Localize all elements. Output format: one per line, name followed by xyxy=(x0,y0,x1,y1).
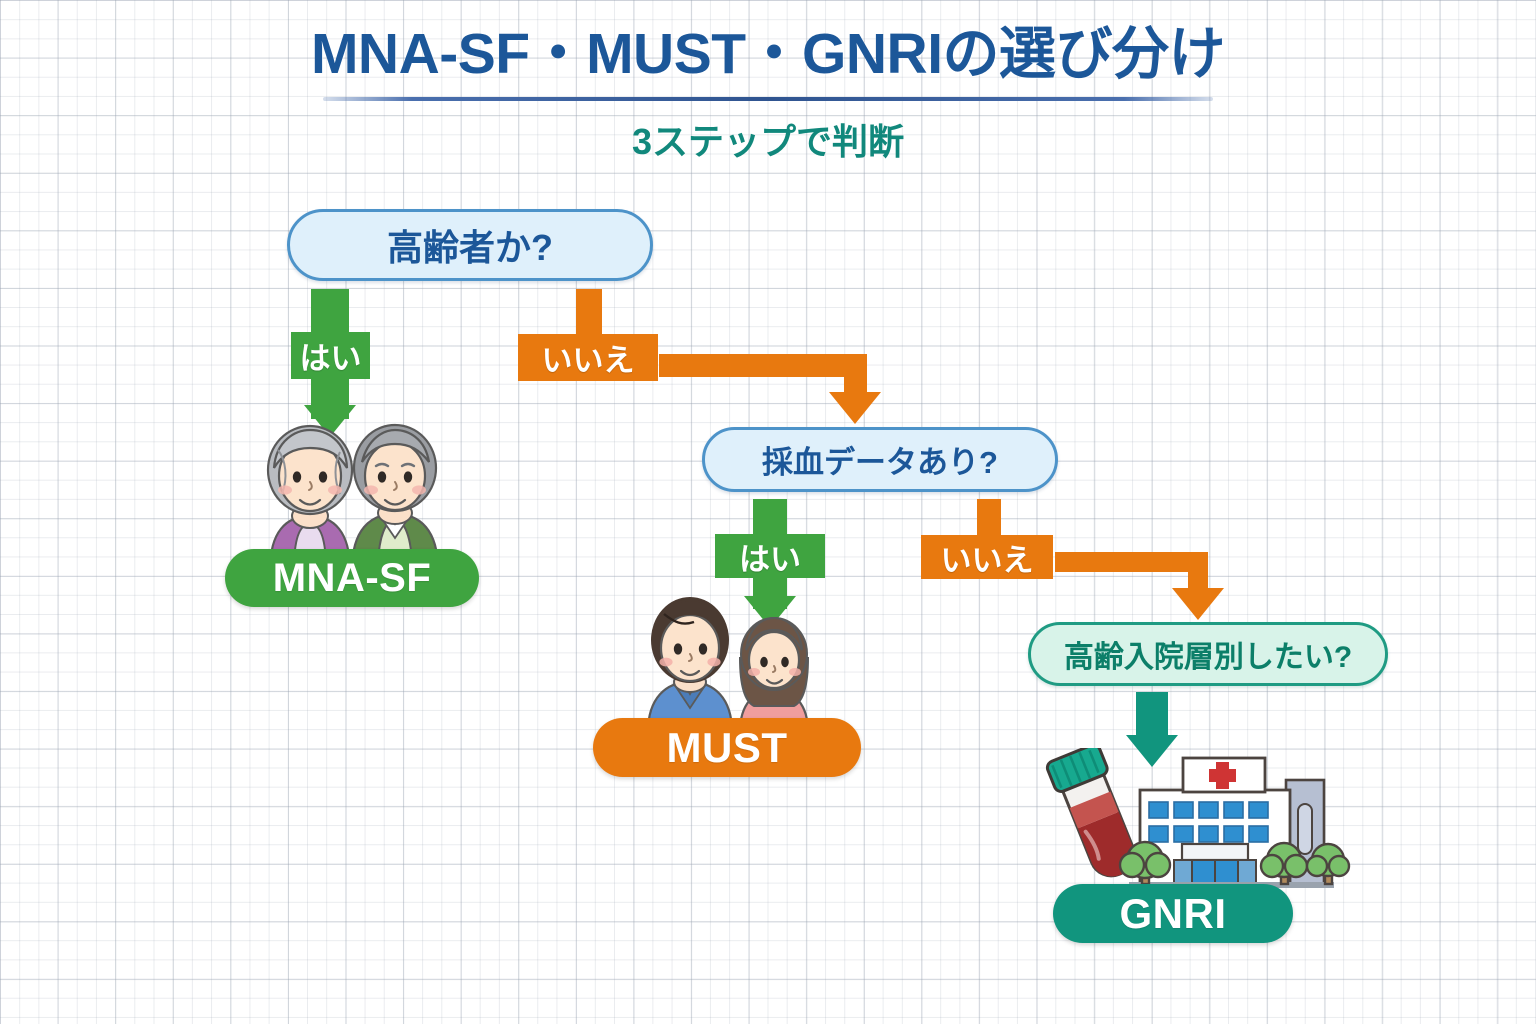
elderly-couple-illustration xyxy=(252,420,452,570)
young-couple-illustration xyxy=(634,592,834,732)
edge-label-q2-yes-text: はい xyxy=(739,534,801,579)
decision-node-q3-label: 高齢入院層別したい? xyxy=(1064,632,1352,676)
edge-q2-no-arrowhead xyxy=(1172,588,1224,620)
decision-node-q2-label: 採血データあり? xyxy=(762,437,998,482)
result-node-mna-sf-label: MNA-SF xyxy=(273,556,432,601)
result-node-gnri-label: GNRI xyxy=(1120,890,1227,938)
edge-label-q1-no-text: いいえ xyxy=(542,335,635,380)
decision-node-q1[interactable]: 高齢者か? xyxy=(287,209,653,281)
page-title: MNA-SF・MUST・GNRIの選び分け xyxy=(0,24,1536,86)
edge-label-q1-yes: はい xyxy=(291,332,370,379)
edge-label-q2-yes: はい xyxy=(715,534,825,578)
result-node-must[interactable]: MUST xyxy=(593,718,861,777)
edge-q2-no-horizontal xyxy=(1055,552,1207,572)
result-node-must-label: MUST xyxy=(667,724,788,772)
edge-label-q1-no: いいえ xyxy=(518,334,658,381)
edge-q1-no-arrowhead xyxy=(829,392,881,424)
edge-label-q2-no-text: いいえ xyxy=(941,535,1034,580)
edge-label-q1-yes-text: はい xyxy=(300,333,362,378)
result-node-mna-sf[interactable]: MNA-SF xyxy=(225,549,479,607)
blood-tube-hospital-illustration xyxy=(1043,748,1353,896)
decision-node-q1-label: 高齢者か? xyxy=(387,219,553,271)
result-node-gnri[interactable]: GNRI xyxy=(1053,884,1293,943)
edge-q1-no-horizontal xyxy=(659,354,865,377)
decision-node-q2[interactable]: 採血データあり? xyxy=(702,427,1058,492)
slide-canvas: MNA-SF・MUST・GNRIの選び分け 3ステップで判断 高齢者か? はい … xyxy=(0,0,1536,1024)
edge-label-q2-no: いいえ xyxy=(921,535,1053,579)
decision-node-q3[interactable]: 高齢入院層別したい? xyxy=(1028,622,1388,686)
title-underline-divider xyxy=(323,97,1213,101)
page-subtitle: 3ステップで判断 xyxy=(0,113,1536,165)
slide-header: MNA-SF・MUST・GNRIの選び分け 3ステップで判断 xyxy=(0,24,1536,165)
